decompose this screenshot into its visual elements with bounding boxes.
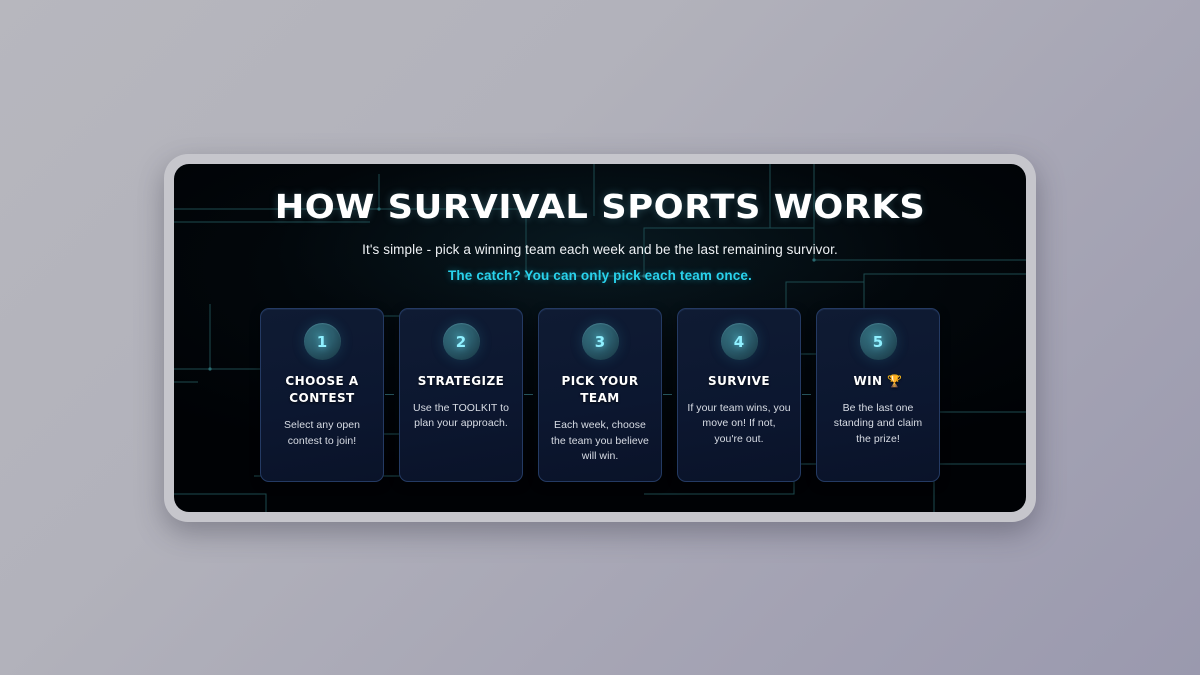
step-card-4[interactable]: 4 SURVIVE If your team wins, you move on… <box>677 308 801 482</box>
step-card-1[interactable]: 1 CHOOSE A CONTEST Select any open conte… <box>260 308 384 482</box>
step-description: Use the TOOLKIT to plan your approach. <box>409 401 513 431</box>
step-description: Each week, choose the team you believe w… <box>548 418 652 464</box>
catch-text: The catch? You can only pick each team o… <box>448 267 752 285</box>
device-frame: HOW SURVIVAL SPORTS WORKS It's simple - … <box>164 154 1036 522</box>
page-title: HOW SURVIVAL SPORTS WORKS <box>275 190 926 225</box>
step-title-with-trophy-icon: WIN 🏆 <box>853 373 902 390</box>
step-description: If your team wins, you move on! If not, … <box>687 401 791 447</box>
step-card-3[interactable]: 3 PICK YOUR TEAM Each week, choose the t… <box>538 308 662 482</box>
step-number: 3 <box>595 333 605 351</box>
content-area: HOW SURVIVAL SPORTS WORKS It's simple - … <box>174 164 1026 512</box>
step-number: 5 <box>873 333 883 351</box>
step-title: PICK YOUR TEAM <box>548 373 652 407</box>
step-number: 4 <box>734 333 744 351</box>
step-badge-2: 2 <box>443 323 480 360</box>
step-description: Be the last one standing and claim the p… <box>826 401 930 447</box>
step-number: 1 <box>317 333 327 351</box>
step-card-2[interactable]: 2 STRATEGIZE Use the TOOLKIT to plan you… <box>399 308 523 482</box>
steps-row: 1 CHOOSE A CONTEST Select any open conte… <box>260 308 940 482</box>
intro-text: It's simple - pick a winning team each w… <box>362 241 838 259</box>
step-title: SURVIVE <box>708 373 770 390</box>
step-description: Select any open contest to join! <box>270 418 374 448</box>
step-badge-1: 1 <box>304 323 341 360</box>
step-number: 2 <box>456 333 466 351</box>
step-title: CHOOSE A CONTEST <box>270 373 374 407</box>
step-badge-5: 5 <box>860 323 897 360</box>
step-title: STRATEGIZE <box>418 373 505 390</box>
step-badge-4: 4 <box>721 323 758 360</box>
step-card-5[interactable]: 5 WIN 🏆 Be the last one standing and cla… <box>816 308 940 482</box>
screen: HOW SURVIVAL SPORTS WORKS It's simple - … <box>174 164 1026 512</box>
step-badge-3: 3 <box>582 323 619 360</box>
